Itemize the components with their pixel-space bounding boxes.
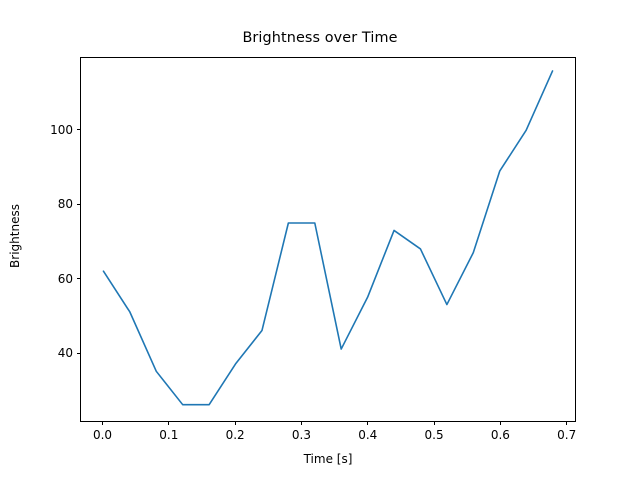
x-axis-label: Time [s]: [80, 452, 576, 466]
matplotlib-figure: Brightness over Time Brightness Time [s]…: [0, 0, 640, 480]
x-axis-tick-label: 0.7: [537, 428, 597, 442]
x-axis-tick-label: 0.5: [404, 428, 464, 442]
brightness-line-series: [103, 71, 552, 405]
x-axis-tick-label: 0.2: [205, 428, 265, 442]
x-axis-tick-label: 0.6: [470, 428, 530, 442]
x-axis-tick-label: 0.4: [338, 428, 398, 442]
x-axis-tick-label: 0.1: [139, 428, 199, 442]
x-axis-tick-label: 0.3: [271, 428, 331, 442]
data-line-svg: [81, 58, 575, 421]
chart-title: Brightness over Time: [0, 30, 640, 46]
x-axis-tick-label: 0.0: [73, 428, 133, 442]
y-axis-label: Brightness: [8, 71, 22, 401]
y-axis-label-container: Brightness: [0, 57, 30, 422]
plot-area: [80, 57, 576, 422]
